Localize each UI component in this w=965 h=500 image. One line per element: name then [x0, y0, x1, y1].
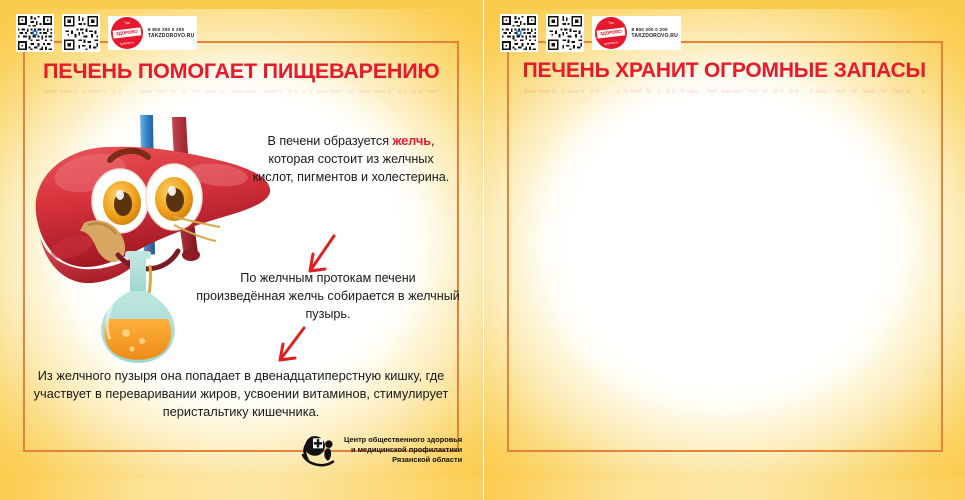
slide-digestion: Так ЗДОРОВО здорово.ru 8 800 200 0 200 T…: [0, 0, 483, 500]
takzdorovo-badge-icon: Так ЗДОРОВО здорово.ru: [111, 17, 143, 49]
text-block-duodenum: Из желчного пузыря она попадает в двенад…: [22, 367, 460, 421]
footer-line-1: Центр общественного здоровья: [344, 435, 462, 445]
page-title-right: ПЕЧЕНЬ ХРАНИТ ОГРОМНЫЕ ЗАПАСЫ: [484, 60, 965, 82]
page-title-reflection-right: ПЕЧЕНЬ ХРАНИТ ОГРОМНЫЕ ЗАПАСЫ: [484, 83, 965, 95]
bottom-band-right: [484, 478, 965, 500]
header-logo-row-left: Так ЗДОРОВО здорово.ru 8 800 200 0 200 T…: [16, 14, 197, 52]
takzdorovo-badge-icon-right: Так ЗДОРОВО здорово.ru: [595, 17, 627, 49]
text-block-bile-composition: В печени образуется желчь, которая состо…: [252, 133, 450, 187]
qr-code-icon-4[interactable]: [546, 14, 584, 52]
takzdorovo-logo[interactable]: Так ЗДОРОВО здорово.ru 8 800 200 0 200 T…: [108, 16, 197, 50]
slide-storage: Так ЗДОРОВО здорово.ru 8 800 200 0 200 T…: [483, 0, 965, 500]
top-band-right: [484, 0, 965, 9]
qr-code-icon-1[interactable]: [16, 14, 54, 52]
bile-text-pre: В печени образуется: [267, 134, 392, 148]
qr-code-icon-2[interactable]: [62, 14, 100, 52]
hotline-site: TAKZDOROVO.RU: [148, 33, 194, 39]
footer-line-2: и медицинской профилактики: [344, 445, 462, 455]
top-band-left: [0, 0, 483, 9]
page-title-reflection: ПЕЧЕНЬ ПОМОГАЕТ ПИЩЕВАРЕНИЮ: [0, 84, 483, 96]
qr-code-icon-3[interactable]: [500, 14, 538, 52]
arrow-down-icon-2: [271, 325, 311, 372]
badge-top-text: Так: [111, 19, 143, 27]
bile-keyword: желчь: [393, 134, 432, 148]
arrow-down-icon-1: [300, 233, 340, 284]
footer-organization-logo-left: Центр общественного здоровья и медицинск…: [298, 430, 462, 470]
header-logo-row-right: Так ЗДОРОВО здорово.ru 8 800 200 0 200 T…: [500, 14, 681, 52]
badge-bottom-text: здорово.ru: [111, 39, 143, 47]
liver-mascot-with-flask-illustration: [22, 105, 272, 365]
badge-bottom-text-right: здорово.ru: [594, 39, 626, 47]
slide-title-left: ПЕЧЕНЬ ПОМОГАЕТ ПИЩЕВАРЕНИЮ ПЕЧЕНЬ ПОМОГ…: [0, 60, 483, 96]
slide-title-right: ПЕЧЕНЬ ХРАНИТ ОГРОМНЫЕ ЗАПАСЫ ПЕЧЕНЬ ХРА…: [484, 60, 965, 95]
bottom-band-left: [0, 478, 483, 500]
page-title: ПЕЧЕНЬ ПОМОГАЕТ ПИЩЕВАРЕНИЮ: [0, 60, 483, 83]
footer-line-3: Рязанской области: [344, 455, 462, 465]
content-frame-right: [507, 41, 943, 452]
health-center-emblem-icon: [298, 430, 338, 470]
infographic-stage: Так ЗДОРОВО здорово.ru 8 800 200 0 200 T…: [0, 0, 965, 500]
hotline-site-right: TAKZDOROVO.RU: [632, 33, 678, 39]
takzdorovo-logo-right[interactable]: Так ЗДОРОВО здорово.ru 8 800 200 0 200 T…: [592, 16, 681, 50]
badge-top-text-right: Так: [594, 19, 626, 27]
